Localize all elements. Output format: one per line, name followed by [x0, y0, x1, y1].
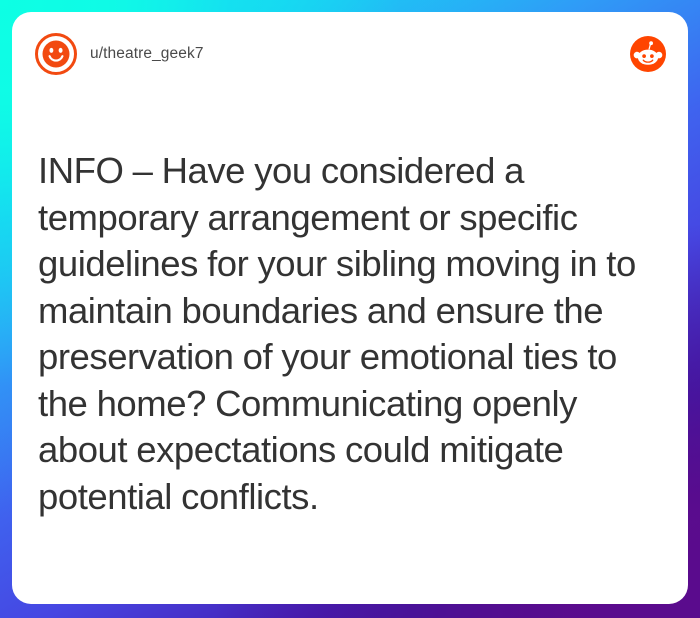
reddit-post-card: u/theatre_geek7 INFO – Have y [12, 12, 688, 604]
post-body-text: INFO – Have you considered a temporary a… [38, 148, 666, 520]
avatar[interactable] [35, 33, 77, 75]
reddit-snoo-icon[interactable] [630, 36, 666, 72]
post-header: u/theatre_geek7 [12, 12, 688, 96]
post-author-username[interactable]: u/theatre_geek7 [90, 45, 204, 63]
screenshot-root: u/theatre_geek7 INFO – Have y [0, 0, 700, 618]
